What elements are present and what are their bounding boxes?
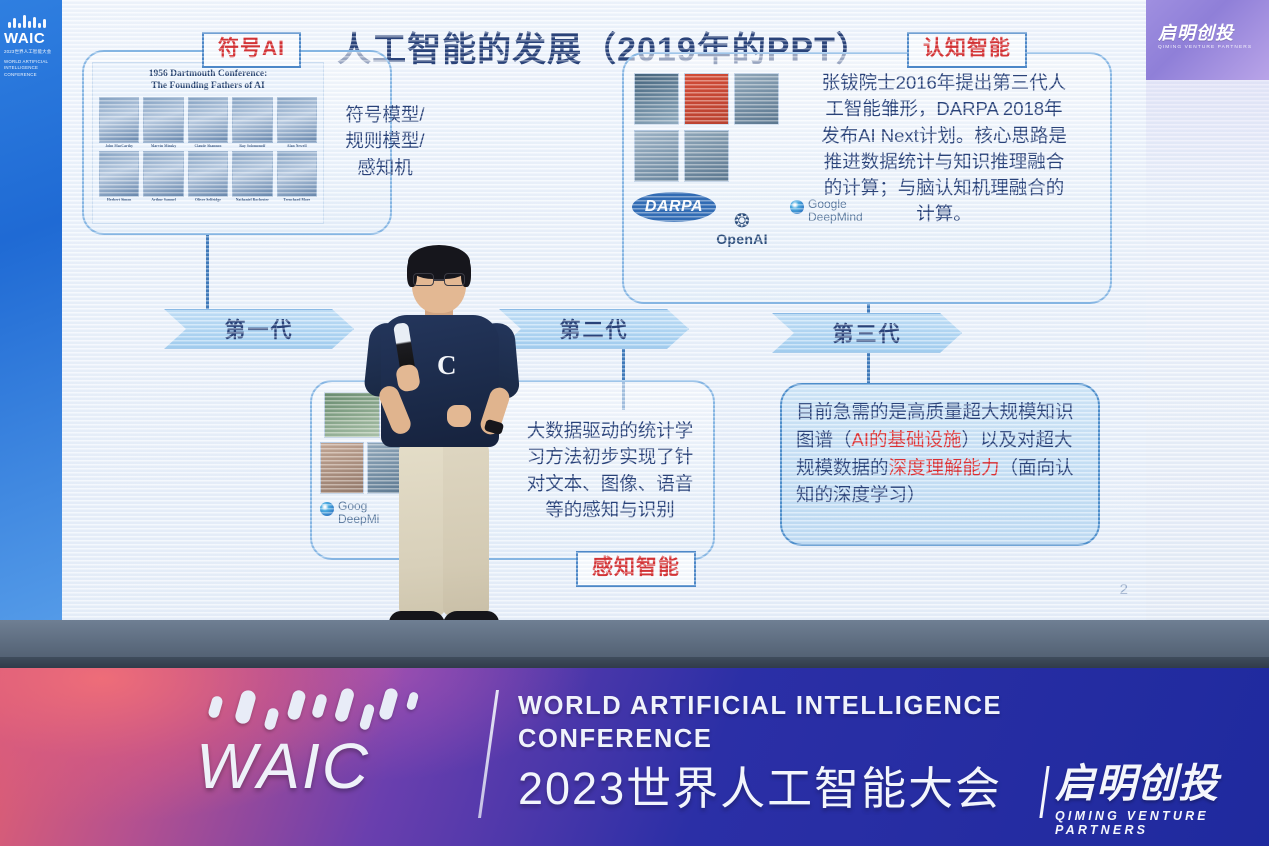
waic-wall-logo: WAIC 2023世界人工智能大会 WORLD ARTIFICIAL INTEL… [4, 14, 58, 78]
banner-waic-dots-icon [210, 682, 464, 732]
wall-panel-right: 启明创投 QIMING VENTURE PARTNERS [1146, 0, 1269, 80]
qiming-wall-logo: 启明创投 QIMING VENTURE PARTNERS [1158, 24, 1252, 50]
deepmind-swirl-icon [320, 502, 334, 516]
collage-person: Marvin Minsky [143, 97, 183, 148]
banner-sponsor-en: QIMING VENTURE PARTNERS [1055, 809, 1269, 837]
label-cognitive-intelligence: 认知智能 [907, 32, 1027, 68]
portrait-thumb [143, 97, 183, 143]
generation-3-arrow: 第三代 [772, 313, 962, 353]
portrait-thumb [188, 151, 228, 197]
event-banner: WAIC WORLD ARTIFICIAL INTELLIGENCE CONFE… [0, 668, 1269, 846]
collage-person: Trenchard More [277, 151, 317, 202]
collage-title: 1956 Dartmouth Conference: The Founding … [99, 69, 317, 93]
waic-dots-icon [8, 14, 58, 28]
banner-chinese-title: 2023世界人工智能大会 [518, 766, 1002, 811]
banner-sponsor-logo: 启明创投 QIMING VENTURE PARTNERS [1055, 764, 1269, 837]
banner-divider [478, 690, 499, 818]
openai-logo: ❂ OpenAI [700, 212, 784, 247]
portrait-thumb [232, 97, 272, 143]
portrait-thumb [143, 151, 183, 197]
portrait-thumb [99, 151, 139, 197]
symbolic-side-text: 符号模型/ 规则模型/ 感知机 [330, 102, 440, 181]
collage-person: Nathaniel Rochester [232, 151, 272, 202]
collage-grid: John MacCarthy Marvin Minsky Claude Shan… [99, 97, 317, 202]
qiming-cn: 启明创投 [1158, 24, 1252, 42]
waic-wordmark: WAIC [4, 31, 58, 46]
banner-sponsor-divider [1039, 766, 1049, 818]
conclusion-text: 目前急需的是高质量超大规模知识图谱（AI的基础设施）以及对超大规模数据的深度理解… [796, 398, 1086, 509]
waic-sub-en: WORLD ARTIFICIAL INTELLIGENCE CONFERENCE [4, 59, 58, 79]
speaker-tshirt-logo: C [437, 353, 459, 379]
collage-person: John MacCarthy [99, 97, 139, 148]
portrait-researcher-5 [684, 130, 729, 182]
collage-person: Herbert Simon [99, 151, 139, 202]
portrait-thumb [232, 151, 272, 197]
generation-1-arrow: 第一代 [164, 309, 354, 349]
generation-2-arrow: 第二代 [499, 309, 689, 349]
connector-gen1 [206, 235, 209, 309]
portrait-thumb [188, 97, 228, 143]
portrait-researcher-3 [734, 73, 779, 125]
portrait-researcher-2 [684, 73, 729, 125]
speaker-pants-right [443, 441, 489, 616]
perceptual-text: 大数据驱动的统计学 习方法初步实现了针 对文本、图像、语音 等的感知与识别 [514, 418, 706, 523]
screenshot-root: 人工智能的发展（2019年的PPT） 1956 Dartmouth Confer… [0, 0, 1269, 846]
qiming-en: QIMING VENTURE PARTNERS [1158, 45, 1252, 50]
portrait-zhang-bo [634, 73, 679, 125]
presentation-slide: 人工智能的发展（2019年的PPT） 1956 Dartmouth Confer… [62, 0, 1146, 620]
portrait-researcher-4 [634, 130, 679, 182]
wall-right-gradient [1146, 0, 1269, 668]
collage-person: Claude Shannon [188, 97, 228, 148]
connector-gen3-bottom [867, 353, 870, 383]
portrait-thumb [277, 97, 317, 143]
cognitive-text: 张钹院士2016年提出第三代人 工智能雏形，DARPA 2018年 发布AI N… [790, 70, 1098, 228]
speaker-pants-left [399, 441, 445, 616]
banner-waic-logo: WAIC [196, 682, 464, 798]
collage-person: Arthur Samuel [143, 151, 183, 202]
collage-person: Oliver Selfridge [188, 151, 228, 202]
waic-sub-cn: 2023世界人工智能大会 [4, 49, 58, 56]
portrait-thumb [277, 151, 317, 197]
collage-person: Ray Solomonoff [232, 97, 272, 148]
label-perceptual-intelligence: 感知智能 [576, 551, 696, 587]
collage-person: Alan Newell [277, 97, 317, 148]
portrait-thumb [99, 97, 139, 143]
label-symbolic-ai: 符号AI [202, 32, 301, 68]
openai-mark-icon: ❂ [700, 212, 784, 231]
speaker-hand-right [447, 405, 471, 427]
speaker-glasses-icon [413, 273, 465, 286]
banner-waic-wordmark: WAIC [196, 734, 464, 798]
banner-english-title: WORLD ARTIFICIAL INTELLIGENCE CONFERENCE [518, 690, 1002, 755]
speaker-presenter: C [355, 245, 525, 660]
banner-sponsor-cn: 启明创投 [1055, 764, 1269, 804]
slide-page-number: 2 [1120, 581, 1128, 598]
wall-pillar-left: WAIC 2023世界人工智能大会 WORLD ARTIFICIAL INTEL… [0, 0, 62, 668]
dartmouth-collage: 1956 Dartmouth Conference: The Founding … [92, 62, 324, 224]
